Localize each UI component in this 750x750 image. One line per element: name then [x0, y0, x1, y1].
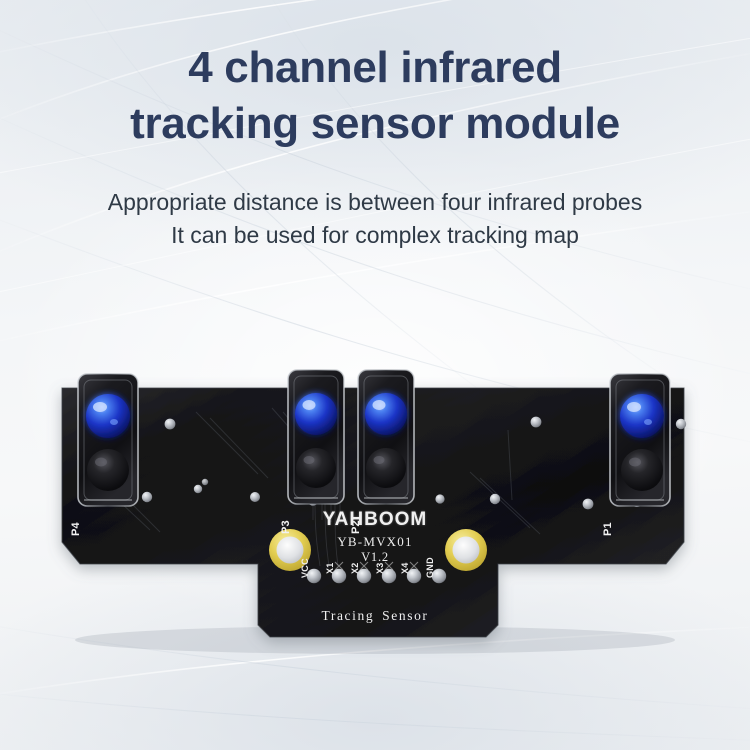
ir-probe-p1 — [610, 374, 670, 506]
ir-probe-p3 — [288, 370, 344, 504]
ir-probe-p2 — [358, 370, 414, 504]
mounting-hole-left — [269, 529, 311, 571]
product-photo: YAHBOOM YB-MVX01 V1.2 Tracing Sensor P4 … — [0, 352, 750, 682]
page-subtitle: Appropriate distance is between four inf… — [0, 186, 750, 252]
mounting-hole-right — [445, 529, 487, 571]
ir-probe-p4 — [78, 374, 138, 506]
subtitle-line-2: It can be used for complex tracking map — [0, 219, 750, 252]
headline-line-2: tracking sensor module — [0, 96, 750, 152]
headline-line-1: 4 channel infrared — [188, 43, 562, 92]
page-title: 4 channel infrared tracking sensor modul… — [0, 40, 750, 152]
subtitle-line-1: Appropriate distance is between four inf… — [108, 189, 642, 215]
product-banner: 4 channel infrared tracking sensor modul… — [0, 0, 750, 750]
